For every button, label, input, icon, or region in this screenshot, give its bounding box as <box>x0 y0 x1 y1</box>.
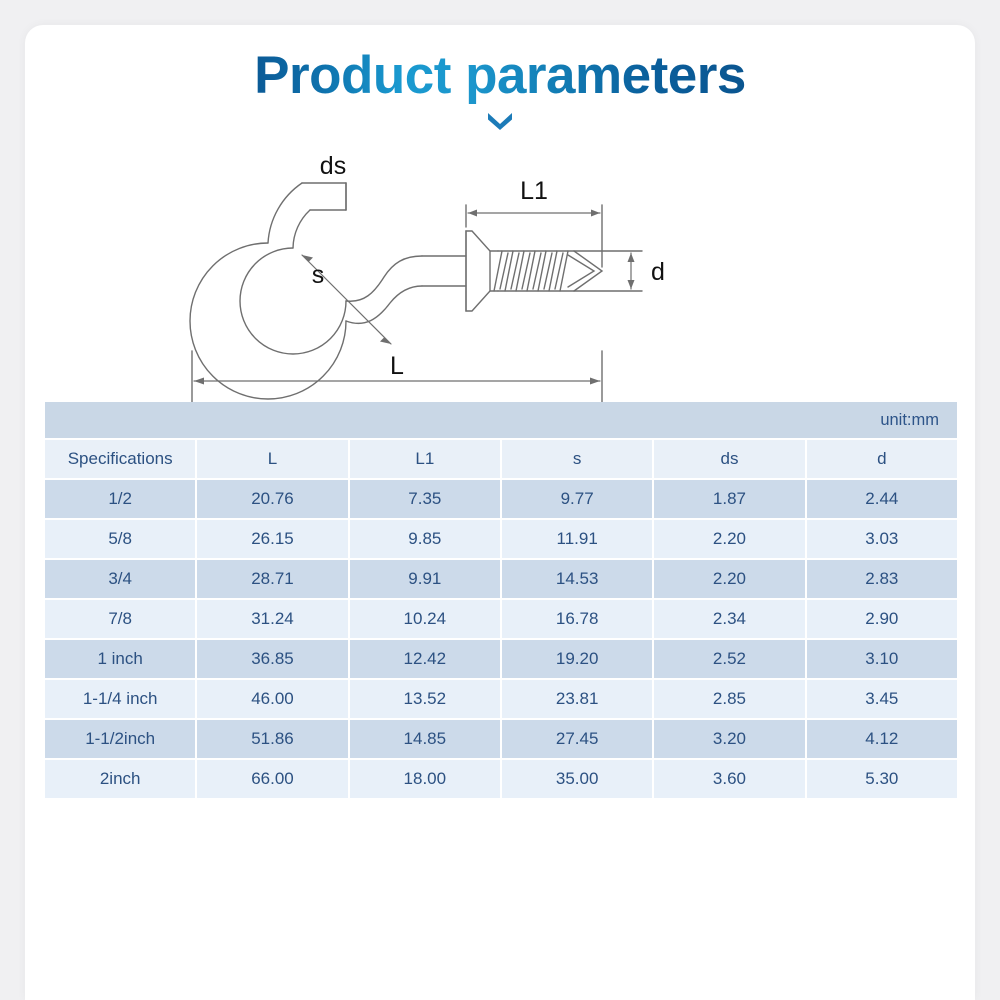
cell-l: 31.24 <box>197 600 347 638</box>
hook-inner-arc-top <box>293 210 310 248</box>
drawing-svg: ds s L1 d L <box>150 143 850 403</box>
unit-row: unit:mm <box>45 402 957 438</box>
cell-l1: 13.52 <box>350 680 500 718</box>
column-header-l1: L1 <box>350 440 500 478</box>
table-row: 2inch 66.00 18.00 35.00 3.60 5.30 <box>45 760 957 798</box>
header-block: Product parameters <box>25 47 975 133</box>
chevron-wrap <box>25 107 975 133</box>
hook-inner-arc <box>240 248 346 354</box>
dim-label-l: L <box>390 352 404 380</box>
cell-d: 2.90 <box>807 600 957 638</box>
cell-l1: 9.85 <box>350 520 500 558</box>
table-row: 1 inch 36.85 12.42 19.20 2.52 3.10 <box>45 640 957 678</box>
dim-l1-arrow-left <box>468 210 477 217</box>
table-row: 3/4 28.71 9.91 14.53 2.20 2.83 <box>45 560 957 598</box>
table-body: unit:mm Specifications L L1 s ds d 1/2 2… <box>45 402 957 798</box>
column-header-ds: ds <box>654 440 804 478</box>
page-title: Product parameters <box>254 47 746 105</box>
column-header-s: s <box>502 440 652 478</box>
collar-cone <box>466 231 490 311</box>
cell-s: 23.81 <box>502 680 652 718</box>
shank-upper-edge <box>346 256 422 301</box>
cell-ds: 1.87 <box>654 480 804 518</box>
cell-s: 14.53 <box>502 560 652 598</box>
screw-hook-technical-drawing: ds s L1 d L <box>25 143 975 403</box>
table-row: 5/8 26.15 9.85 11.91 2.20 3.03 <box>45 520 957 558</box>
cell-l: 26.15 <box>197 520 347 558</box>
dim-l1-arrow-right <box>591 210 600 217</box>
cell-spec: 7/8 <box>45 600 195 638</box>
cell-s: 16.78 <box>502 600 652 638</box>
cell-l: 28.71 <box>197 560 347 598</box>
cell-ds: 2.20 <box>654 520 804 558</box>
cell-spec: 1-1/2inch <box>45 720 195 758</box>
cell-s: 27.45 <box>502 720 652 758</box>
column-header-l: L <box>197 440 347 478</box>
cell-l1: 14.85 <box>350 720 500 758</box>
cell-d: 3.03 <box>807 520 957 558</box>
thread-turn-7 <box>560 251 568 291</box>
cell-d: 2.44 <box>807 480 957 518</box>
cell-l1: 12.42 <box>350 640 500 678</box>
cell-l: 20.76 <box>197 480 347 518</box>
cell-spec: 3/4 <box>45 560 195 598</box>
cell-l: 46.00 <box>197 680 347 718</box>
cell-s: 9.77 <box>502 480 652 518</box>
cell-ds: 3.20 <box>654 720 804 758</box>
specification-table-wrap: unit:mm Specifications L L1 s ds d 1/2 2… <box>43 400 959 800</box>
cell-ds: 2.20 <box>654 560 804 598</box>
table-row: 1-1/4 inch 46.00 13.52 23.81 2.85 3.45 <box>45 680 957 718</box>
column-header-d: d <box>807 440 957 478</box>
dim-d-arrow-top <box>628 253 635 262</box>
product-parameters-card: Product parameters <box>25 25 975 1000</box>
dim-d-arrow-bottom <box>628 280 635 289</box>
column-header-specifications: Specifications <box>45 440 195 478</box>
cell-ds: 3.60 <box>654 760 804 798</box>
cell-ds: 2.85 <box>654 680 804 718</box>
screw-point <box>574 251 602 291</box>
cell-d: 3.45 <box>807 680 957 718</box>
cell-s: 19.20 <box>502 640 652 678</box>
cell-d: 5.30 <box>807 760 957 798</box>
dim-l-arrow-right <box>590 378 600 385</box>
cell-l1: 18.00 <box>350 760 500 798</box>
dim-l-arrow-left <box>194 378 204 385</box>
cell-l: 36.85 <box>197 640 347 678</box>
cell-ds: 2.34 <box>654 600 804 638</box>
dim-label-s: s <box>312 261 325 289</box>
table-row: 7/8 31.24 10.24 16.78 2.34 2.90 <box>45 600 957 638</box>
cell-d: 3.10 <box>807 640 957 678</box>
cell-s: 35.00 <box>502 760 652 798</box>
table-header-row: Specifications L L1 s ds d <box>45 440 957 478</box>
cell-l: 51.86 <box>197 720 347 758</box>
cell-spec: 2inch <box>45 760 195 798</box>
cell-s: 11.91 <box>502 520 652 558</box>
cell-ds: 2.52 <box>654 640 804 678</box>
dim-label-ds: ds <box>320 152 346 180</box>
table-row: 1-1/2inch 51.86 14.85 27.45 3.20 4.12 <box>45 720 957 758</box>
shank-lower-edge <box>346 286 422 323</box>
cell-l1: 7.35 <box>350 480 500 518</box>
cell-l1: 9.91 <box>350 560 500 598</box>
chevron-down-icon <box>480 107 520 131</box>
cell-spec: 1 inch <box>45 640 195 678</box>
screw-point-inner <box>568 255 594 287</box>
cell-l: 66.00 <box>197 760 347 798</box>
hook-outer-arc-top <box>268 183 302 243</box>
cell-spec: 5/8 <box>45 520 195 558</box>
cell-spec: 1/2 <box>45 480 195 518</box>
cell-d: 4.12 <box>807 720 957 758</box>
table-row: 1/2 20.76 7.35 9.77 1.87 2.44 <box>45 480 957 518</box>
cell-l1: 10.24 <box>350 600 500 638</box>
unit-note: unit:mm <box>45 402 957 438</box>
cell-d: 2.83 <box>807 560 957 598</box>
dim-label-l1: L1 <box>520 177 548 205</box>
cell-spec: 1-1/4 inch <box>45 680 195 718</box>
specification-table: unit:mm Specifications L L1 s ds d 1/2 2… <box>43 400 959 800</box>
dim-label-d: d <box>651 258 665 286</box>
